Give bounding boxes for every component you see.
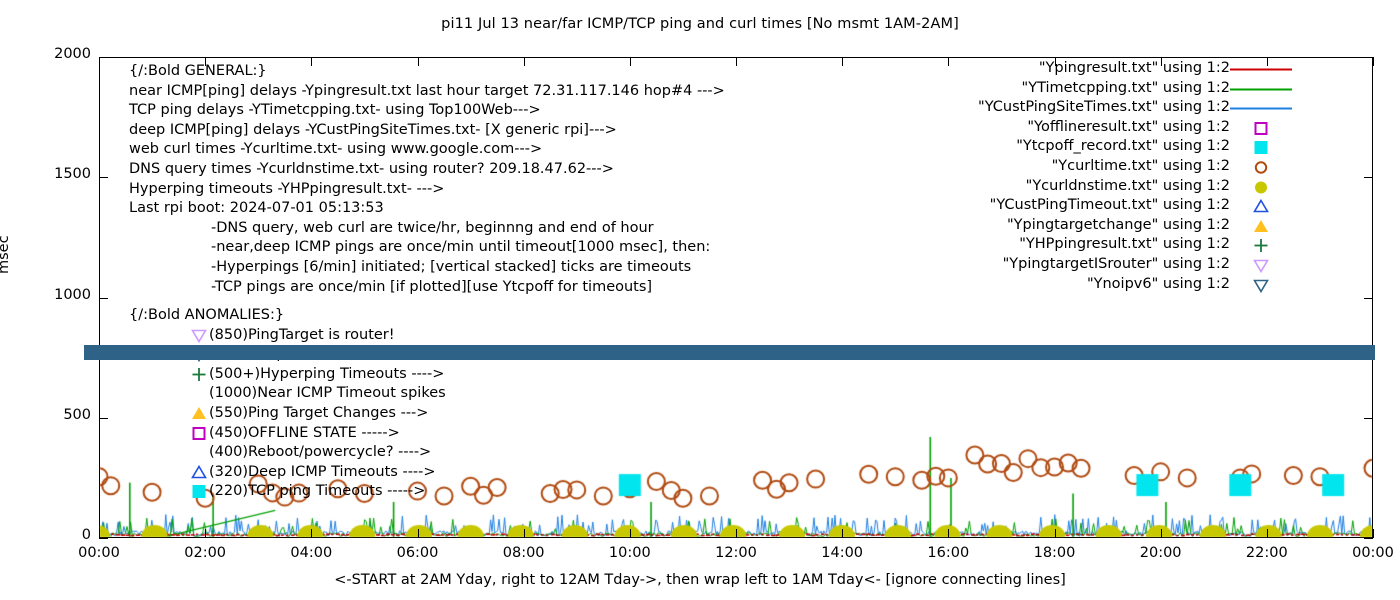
legend-marker-circle-fill-icon <box>1230 178 1292 198</box>
general-line: web curl times -Ycurltime.txt- using www… <box>129 140 725 160</box>
x-tick-label: 20:00 <box>1121 545 1201 561</box>
anomaly-row: (400)Reboot/powercycle? ----> <box>129 443 446 463</box>
anomaly-marker-plus-icon <box>191 367 207 382</box>
legend-label: "YCustPingTimeout.txt" using 1:2 <box>990 197 1230 213</box>
legend-entry[interactable]: "Ycurldnstime.txt" using 1:2 <box>940 178 1320 198</box>
x-tick-label: 10:00 <box>590 545 670 561</box>
general-line: near ICMP[ping] delays -Ypingresult.txt … <box>129 82 725 102</box>
anomaly-row: (850)PingTarget is router! <box>129 326 446 346</box>
legend-label: "YTimetcpping.txt" using 1:2 <box>1022 80 1230 96</box>
legend-marker-triangle-up-fill-icon <box>1230 217 1292 237</box>
x-tick <box>311 529 312 538</box>
x-tick-top <box>842 57 843 66</box>
y-tick-label: 1000 <box>54 287 91 303</box>
y-tick-right <box>1364 418 1373 419</box>
legend-label: "Ypingresult.txt" using 1:2 <box>1039 60 1230 76</box>
anomalies-rows: (850)PingTarget is router!(725)No ipv6 f… <box>129 326 446 502</box>
legend-marker-line-icon <box>1230 80 1292 100</box>
legend-entry[interactable]: "YTimetcpping.txt" using 1:2 <box>940 80 1320 100</box>
anomalies-heading: {/:Bold ANOMALIES:} <box>129 306 446 326</box>
legend-label: "Ytcpoff_record.txt" using 1:2 <box>1016 138 1230 154</box>
legend-marker-line-icon <box>1230 60 1292 80</box>
x-tick-label: 16:00 <box>908 545 988 561</box>
legend-label: "Ycurldnstime.txt" using 1:2 <box>1026 178 1230 194</box>
legend-label: "Ynoipv6" using 1:2 <box>1087 276 1230 292</box>
general-line: DNS query times -Ycurldnstime.txt- using… <box>129 160 725 180</box>
legend-entry[interactable]: "Ytcpoff_record.txt" using 1:2 <box>940 138 1320 158</box>
y-tick-right <box>1364 298 1373 299</box>
y-tick <box>99 418 108 419</box>
legend-marker-triangle-up-open-icon <box>1230 197 1292 217</box>
anomaly-label: (220)TCP ping Timeouts -----> <box>209 483 425 499</box>
general-annotation-block: {/:Bold GENERAL:} near ICMP[ping] delays… <box>129 62 725 297</box>
anomaly-label: (1000)Near ICMP Timeout spikes <box>209 385 446 401</box>
x-tick-label: 02:00 <box>165 545 245 561</box>
x-tick <box>736 529 737 538</box>
x-tick-label: 18:00 <box>1015 545 1095 561</box>
x-tick-top <box>99 57 100 66</box>
general-lines: near ICMP[ping] delays -Ypingresult.txt … <box>129 82 725 219</box>
x-tick <box>1373 529 1374 538</box>
y-axis-title: msec <box>0 235 12 274</box>
anomaly-label: (400)Reboot/powercycle? ----> <box>209 444 431 460</box>
anomaly-marker-square-open-icon <box>191 426 207 441</box>
x-axis-title: <-START at 2AM Yday, right to 12AM Tday-… <box>0 572 1400 588</box>
x-tick-label: 06:00 <box>378 545 458 561</box>
legend-label: "Ypingtargetchange" using 1:2 <box>1007 217 1230 233</box>
y-tick <box>99 538 108 539</box>
anomaly-label: (725)No ipv6 fallback ---> <box>209 346 397 362</box>
x-tick <box>1267 529 1268 538</box>
x-tick <box>524 529 525 538</box>
general-indented-line: -near,deep ICMP pings are once/min until… <box>129 238 725 258</box>
y-tick-label: 0 <box>82 527 91 543</box>
legend-entry[interactable]: "Ynoipv6" using 1:2 <box>940 276 1320 296</box>
legend-entry[interactable]: "Ypingtargetchange" using 1:2 <box>940 217 1320 237</box>
general-line: TCP ping delays -YTimetcpping.txt- using… <box>129 101 725 121</box>
x-tick-label: 12:00 <box>696 545 776 561</box>
x-tick <box>205 529 206 538</box>
general-line: Last rpi boot: 2024-07-01 05:13:53 <box>129 199 725 219</box>
x-tick-label: 08:00 <box>484 545 564 561</box>
legend-entry[interactable]: "Ycurltime.txt" using 1:2 <box>940 158 1320 178</box>
anomaly-marker-square-fill-icon <box>191 484 207 499</box>
legend-entry[interactable]: "YCustPingTimeout.txt" using 1:2 <box>940 197 1320 217</box>
general-indented-line: -TCP pings are once/min [if plotted][use… <box>129 278 725 298</box>
y-tick-label: 500 <box>63 407 91 423</box>
general-line: deep ICMP[ping] delays -YCustPingSiteTim… <box>129 121 725 141</box>
x-tick-label: 22:00 <box>1227 545 1307 561</box>
general-line: Hyperping timeouts -YHPpingresult.txt- -… <box>129 180 725 200</box>
legend-entry[interactable]: "YpingtargetISrouter" using 1:2 <box>940 256 1320 276</box>
legend-marker-triangle-down-open-icon <box>1230 276 1292 296</box>
y-tick-right <box>1364 538 1373 539</box>
legend-marker-line-icon <box>1230 99 1292 119</box>
legend-marker-plus-icon <box>1230 236 1292 256</box>
legend-entry[interactable]: "Yofflineresult.txt" using 1:2 <box>940 119 1320 139</box>
anomalies-annotation-block: {/:Bold ANOMALIES:} (850)PingTarget is r… <box>129 306 446 502</box>
x-tick-label: 14:00 <box>802 545 882 561</box>
x-tick <box>948 529 949 538</box>
x-tick-top <box>736 57 737 66</box>
anomaly-row: (450)OFFLINE STATE -----> <box>129 424 446 444</box>
general-heading: {/:Bold GENERAL:} <box>129 62 725 82</box>
y-tick-right <box>1364 177 1373 178</box>
x-tick-label: 00:00 <box>59 545 139 561</box>
anomaly-row: (220)TCP ping Timeouts -----> <box>129 482 446 502</box>
anomaly-row: (320)Deep ICMP Timeouts ----> <box>129 463 446 483</box>
general-indented-line: -Hyperpings [6/min] initiated; [vertical… <box>129 258 725 278</box>
anomaly-label: (850)PingTarget is router! <box>209 327 395 343</box>
anomaly-row: (1000)Near ICMP Timeout spikes <box>129 384 446 404</box>
anomaly-marker-triangle-up-fill-icon <box>191 406 207 421</box>
legend-label: "YCustPingSiteTimes.txt" using 1:2 <box>978 99 1230 115</box>
x-tick-label: 00:00 <box>1333 545 1400 561</box>
x-tick <box>418 529 419 538</box>
y-tick-label: 2000 <box>54 46 91 62</box>
x-tick <box>1055 529 1056 538</box>
anomaly-row: (500+)Hyperping Timeouts ----> <box>129 365 446 385</box>
anomaly-label: (450)OFFLINE STATE -----> <box>209 425 400 441</box>
anomaly-row: (550)Ping Target Changes ---> <box>129 404 446 424</box>
y-tick-label: 1500 <box>54 166 91 182</box>
anomaly-label: (550)Ping Target Changes ---> <box>209 405 428 421</box>
anomaly-marker-triangle-down-open-icon <box>191 328 207 343</box>
x-tick-top <box>1373 57 1374 66</box>
general-indented-line: -DNS query, web curl are twice/hr, begin… <box>129 219 725 239</box>
y-tick <box>99 298 108 299</box>
legend-entry[interactable]: "YHPpingresult.txt" using 1:2 <box>940 236 1320 256</box>
legend-marker-circle-open-icon <box>1230 158 1292 178</box>
legend-marker-square-fill-icon <box>1230 138 1292 158</box>
anomaly-marker-triangle-up-open-icon <box>191 465 207 480</box>
legend-label: "YHPpingresult.txt" using 1:2 <box>1019 236 1230 252</box>
anomaly-label: (320)Deep ICMP Timeouts ----> <box>209 464 436 480</box>
y-tick <box>99 57 108 58</box>
general-indented-lines: -DNS query, web curl are twice/hr, begin… <box>129 219 725 297</box>
legend-marker-square-open-icon <box>1230 119 1292 139</box>
x-tick <box>842 529 843 538</box>
x-tick-label: 04:00 <box>271 545 351 561</box>
legend-entry[interactable]: "YCustPingSiteTimes.txt" using 1:2 <box>940 99 1320 119</box>
anomaly-marker-triangle-down-open-icon <box>191 347 207 362</box>
anomaly-label: (500+)Hyperping Timeouts ----> <box>209 366 444 382</box>
legend-label: "YpingtargetISrouter" using 1:2 <box>1003 256 1230 272</box>
y-tick-right <box>1364 57 1373 58</box>
legend-marker-triangle-down-open-icon <box>1230 256 1292 276</box>
x-tick <box>1161 529 1162 538</box>
legend: "Ypingresult.txt" using 1:2"YTimetcpping… <box>940 60 1320 295</box>
legend-entry[interactable]: "Ypingresult.txt" using 1:2 <box>940 60 1320 80</box>
page-title: pi11 Jul 13 near/far ICMP/TCP ping and c… <box>0 16 1400 32</box>
anomaly-row: (725)No ipv6 fallback ---> <box>129 345 446 365</box>
legend-label: "Yofflineresult.txt" using 1:2 <box>1027 119 1230 135</box>
y-tick <box>99 177 108 178</box>
x-tick <box>99 529 100 538</box>
x-tick <box>630 529 631 538</box>
legend-label: "Ycurltime.txt" using 1:2 <box>1052 158 1230 174</box>
